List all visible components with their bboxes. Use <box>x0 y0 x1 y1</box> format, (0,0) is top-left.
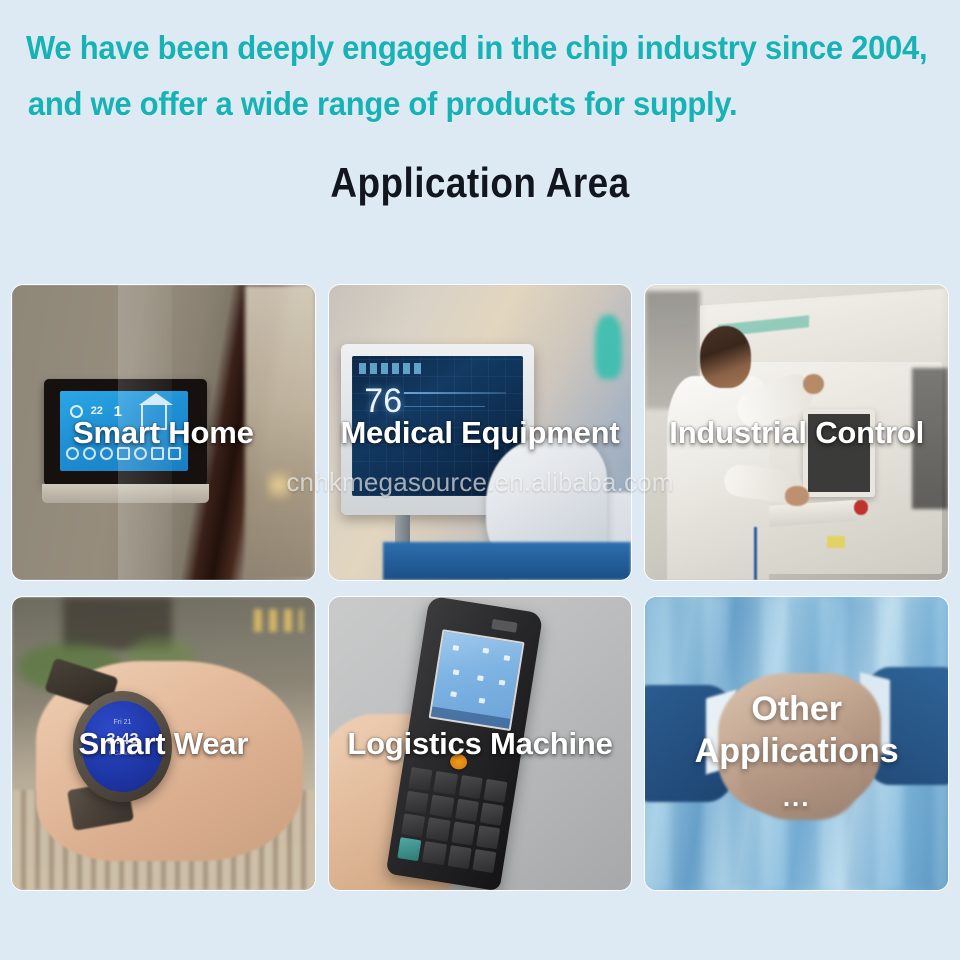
keypad-key <box>459 774 483 798</box>
keypad-key <box>409 766 433 790</box>
card-label-medical-equipment: Medical Equipment <box>329 415 632 451</box>
desktop-icon <box>453 645 460 651</box>
card-logistics-machine[interactable]: Logistics Machine <box>329 597 632 890</box>
card-label-logistics-machine: Logistics Machine <box>329 726 632 762</box>
keypad-key <box>476 826 500 850</box>
other-label-ellipsis: ... <box>645 782 948 813</box>
keypad-key <box>430 794 454 818</box>
blue-drape <box>383 542 631 580</box>
keypad-key <box>472 849 496 873</box>
keypad-key <box>402 814 426 838</box>
technician-hand-upper <box>803 374 824 395</box>
terminal-screen <box>429 629 525 731</box>
page-header: We have been deeply engaged in the chip … <box>0 0 960 206</box>
card-smart-home[interactable]: 22 1 Smart Home <box>12 285 315 580</box>
card-smart-wear[interactable]: Fri 21 3:43 0 Calories Smart Wear <box>12 597 315 890</box>
keypad-key <box>484 778 508 802</box>
monitor-status-bar <box>359 363 424 374</box>
desktop-icon <box>453 669 460 675</box>
warning-label <box>827 536 845 548</box>
card-label-other-applications: Other Applications <box>645 688 948 772</box>
desktop-icon <box>499 680 506 686</box>
keypad <box>398 766 508 873</box>
desktop-icon <box>478 698 485 704</box>
blue-cable <box>754 527 757 580</box>
other-label-line-1: Other <box>645 688 948 730</box>
keypad-key <box>434 770 458 794</box>
keypad-key <box>447 845 471 869</box>
card-medical-equipment[interactable]: 76 Medical Equipment <box>329 285 632 580</box>
desktop-icon <box>483 648 490 654</box>
desktop-icon <box>477 675 484 681</box>
technician-hand-lower <box>785 486 809 507</box>
card-other-applications[interactable]: Other Applications ... <box>645 597 948 890</box>
card-label-industrial-control: Industrial Control <box>645 415 948 451</box>
headline-line-2: and we offer a wide range of products fo… <box>26 76 880 132</box>
page-title: Application Area <box>80 160 879 206</box>
card-industrial-control[interactable]: Industrial Control <box>645 285 948 580</box>
keypad-key <box>455 798 479 822</box>
teal-equipment-blur <box>595 315 622 380</box>
keypad-key <box>480 802 504 826</box>
desktop-icon <box>504 655 511 661</box>
ecg-waveform <box>404 392 506 394</box>
secondary-waveform <box>404 406 486 407</box>
lamp-glow-icon <box>266 468 292 502</box>
keypad-key <box>423 841 447 865</box>
desktop-icon <box>451 692 458 698</box>
card-label-smart-home: Smart Home <box>12 415 315 451</box>
keypad-key <box>451 822 475 846</box>
emergency-stop-button <box>854 500 868 515</box>
other-label-line-2: Applications <box>645 730 948 772</box>
application-area-grid: 22 1 Smart Home <box>12 285 948 890</box>
headline-line-1: We have been deeply engaged in the chip … <box>26 20 880 76</box>
technician-head <box>700 326 751 388</box>
background-lights <box>254 609 302 632</box>
keypad-key-function <box>398 837 422 861</box>
speaker-grille-icon <box>491 618 518 632</box>
wall-panel-base <box>42 484 208 503</box>
keypad-key <box>426 818 450 842</box>
card-label-smart-wear: Smart Wear <box>12 726 315 762</box>
vital-sign-value: 76 <box>364 384 402 418</box>
keypad-key <box>405 790 429 814</box>
